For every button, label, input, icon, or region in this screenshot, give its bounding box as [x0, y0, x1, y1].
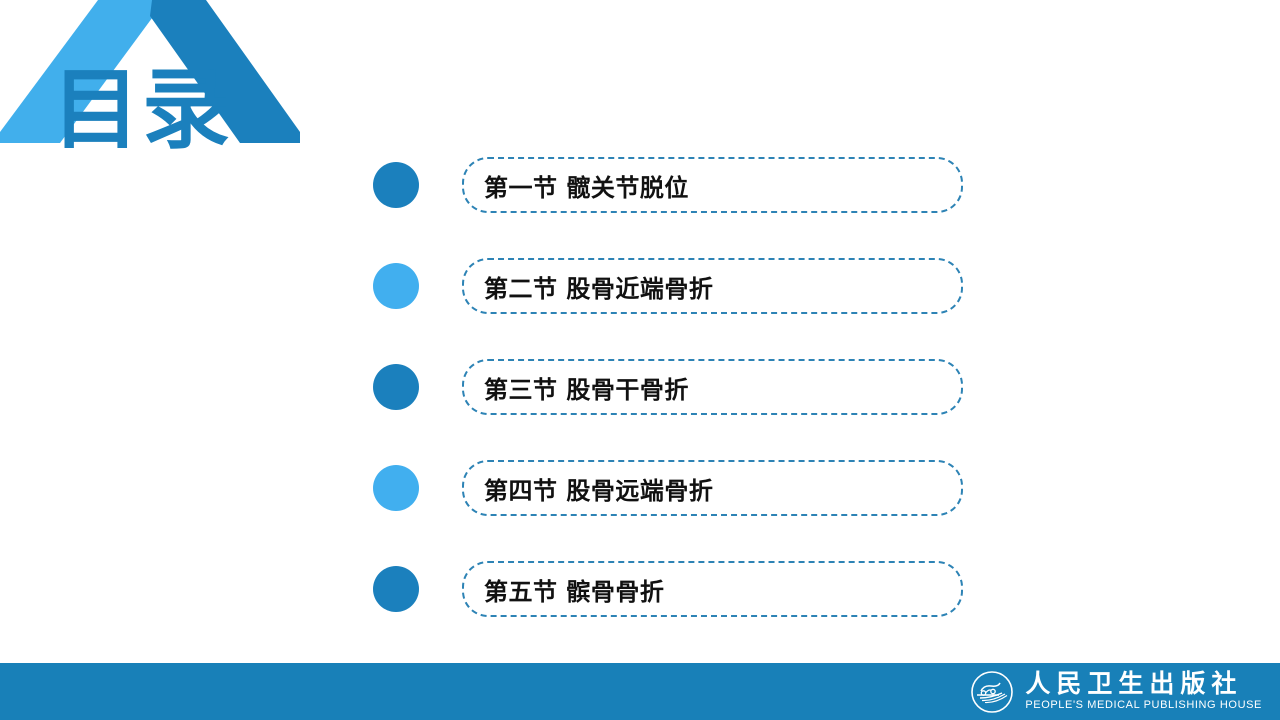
toc-item-box[interactable]: 第五节 髌骨骨折 [462, 561, 963, 617]
toc-item-box[interactable]: 第一节 髋关节脱位 [462, 157, 963, 213]
toc-item-label: 第三节 股骨干骨折 [484, 370, 689, 405]
publisher-name-cn: 人民卫生出版社 [1025, 671, 1262, 697]
toc-item-label: 第四节 股骨远端骨折 [484, 471, 713, 506]
toc-item-label: 第一节 髋关节脱位 [484, 168, 689, 203]
list-item[interactable]: 第二节 股骨近端骨折 [373, 258, 963, 314]
toc-item-box[interactable]: 第四节 股骨远端骨折 [462, 460, 963, 516]
toc-item-label: 第二节 股骨近端骨折 [484, 269, 713, 304]
toc-item-label: 第五节 髌骨骨折 [484, 572, 664, 607]
publisher-logo: 人民卫生出版社 PEOPLE'S MEDICAL PUBLISHING HOUS… [969, 669, 1262, 715]
toc-item-box[interactable]: 第三节 股骨干骨折 [462, 359, 963, 415]
list-item[interactable]: 第四节 股骨远端骨折 [373, 460, 963, 516]
bullet-circle-icon [373, 465, 419, 511]
slide-root: 目录 第一节 髋关节脱位 第二节 股骨近端骨折 第三节 股骨干骨折 第四节 股骨… [0, 0, 1280, 720]
list-item[interactable]: 第三节 股骨干骨折 [373, 359, 963, 415]
toc-list: 第一节 髋关节脱位 第二节 股骨近端骨折 第三节 股骨干骨折 第四节 股骨远端骨… [373, 157, 963, 617]
toc-item-box[interactable]: 第二节 股骨近端骨折 [462, 258, 963, 314]
pmph-emblem-icon [969, 669, 1015, 715]
footer-bar: 人民卫生出版社 PEOPLE'S MEDICAL PUBLISHING HOUS… [0, 663, 1280, 720]
list-item[interactable]: 第五节 髌骨骨折 [373, 561, 963, 617]
list-item[interactable]: 第一节 髋关节脱位 [373, 157, 963, 213]
bullet-circle-icon [373, 566, 419, 612]
bullet-circle-icon [373, 364, 419, 410]
bullet-circle-icon [373, 162, 419, 208]
page-title: 目录 [52, 66, 232, 154]
publisher-name-en: PEOPLE'S MEDICAL PUBLISHING HOUSE [1025, 699, 1262, 712]
publisher-text: 人民卫生出版社 PEOPLE'S MEDICAL PUBLISHING HOUS… [1025, 671, 1262, 712]
bullet-circle-icon [373, 263, 419, 309]
